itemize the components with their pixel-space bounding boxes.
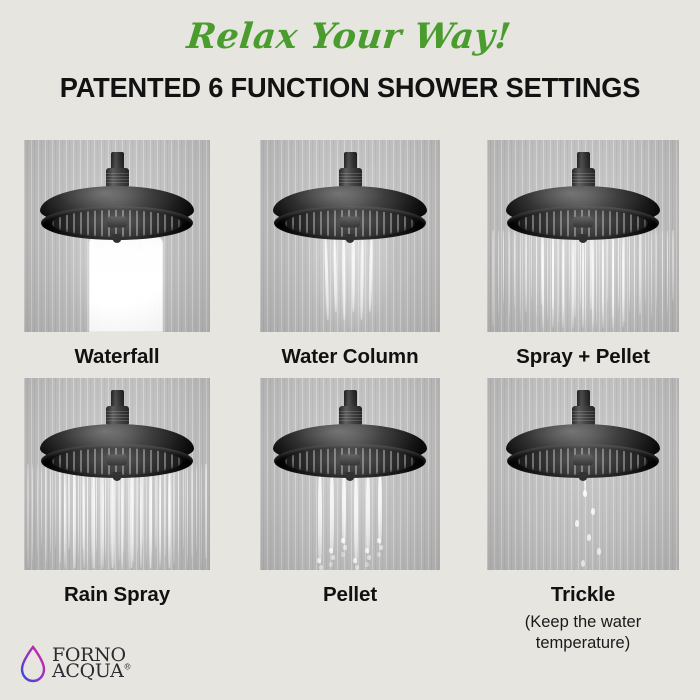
shower-setting-trickle[interactable]: Trickle(Keep the water temperature) [467, 378, 700, 655]
shower-photo-waterfall [24, 140, 210, 332]
water-jet [73, 472, 75, 568]
head-nozzle-face [285, 448, 415, 475]
water-jet [651, 230, 652, 319]
shower-pipe [344, 390, 357, 406]
shower-pipe [577, 152, 590, 168]
water-jet [168, 472, 170, 568]
brand-line-2: ACQUA® [52, 664, 131, 680]
water-jet [130, 472, 132, 568]
shower-pipe [111, 390, 124, 406]
head-hub [573, 454, 593, 465]
shower-photo-rain-spray [24, 378, 210, 570]
setting-label-rain-spray: Rain Spray [64, 584, 170, 606]
water-droplet [319, 565, 322, 570]
script-tagline: Relax Your Way! [0, 0, 700, 54]
setting-label-spray-pellet: Spray + Pellet [516, 346, 650, 368]
setting-label-pellet: Pellet [323, 584, 377, 606]
head-hub [573, 217, 593, 228]
shower-head-disc [506, 186, 660, 242]
settings-row-2: Rain SprayPelletTrickle(Keep the water t… [0, 378, 700, 655]
shower-head-disc [273, 186, 427, 242]
page-title: PATENTED 6 FUNCTION SHOWER SETTINGS [4, 54, 697, 102]
water-droplet [341, 552, 344, 557]
water-jet [525, 230, 527, 312]
shower-pipe [111, 152, 124, 168]
shower-head-waterfall [40, 152, 194, 242]
head-selector-nub [113, 472, 122, 481]
setting-label-waterfall: Waterfall [75, 346, 160, 368]
water-mist [307, 238, 393, 328]
water-jet [662, 230, 663, 323]
water-droplet [329, 562, 332, 567]
water-droplet [581, 560, 585, 567]
shower-pipe [344, 152, 357, 168]
setting-sublabel-trickle: (Keep the water temperature) [493, 612, 673, 655]
shower-head-disc [273, 424, 427, 480]
water-jet [205, 464, 206, 559]
head-selector-nub [346, 472, 355, 481]
water-jet [92, 472, 94, 568]
brand-name: FORNO ACQUA® [52, 648, 131, 680]
water-jet [574, 230, 576, 317]
shower-head-disc [506, 424, 660, 480]
brand-logo: FORNO ACQUA® [18, 644, 131, 684]
water-jet [639, 230, 641, 315]
water-jet [201, 464, 202, 566]
shower-collar [106, 168, 129, 188]
head-hub [107, 217, 127, 228]
water-jet [509, 230, 511, 319]
shower-collar [339, 406, 362, 426]
shower-photo-trickle [487, 378, 679, 570]
water-jet [520, 230, 521, 323]
setting-label-water-column: Water Column [282, 346, 419, 368]
water-droplet [355, 565, 358, 570]
water-mist [65, 236, 169, 332]
shower-setting-spray-pellet[interactable]: Spray + Pellet [467, 140, 700, 368]
water-droplet [591, 508, 595, 515]
registered-mark: ® [124, 663, 132, 672]
water-droplet [597, 548, 601, 555]
shower-head-disc [40, 424, 194, 480]
water-droplet [317, 558, 320, 563]
water-droplet [367, 555, 370, 560]
head-nozzle-face [518, 210, 648, 237]
shower-head-rain-spray [40, 390, 194, 480]
shower-pipe [577, 390, 590, 406]
setting-label-trickle: Trickle [551, 584, 615, 606]
water-drop-icon [18, 644, 48, 684]
shower-settings-grid: WaterfallWater ColumnSpray + Pellet Rain… [0, 140, 700, 655]
water-jet [498, 230, 499, 315]
water-jet [111, 472, 113, 568]
head-selector-nub [113, 234, 122, 243]
head-nozzle-face [52, 448, 182, 475]
shower-setting-pellet[interactable]: Pellet [234, 378, 467, 606]
head-nozzle-face [518, 448, 648, 475]
shower-collar [339, 168, 362, 188]
shower-head-pellet [273, 390, 427, 480]
water-droplet [377, 552, 380, 557]
water-jet [492, 230, 494, 326]
head-hub [107, 454, 127, 465]
shower-collar [106, 406, 129, 426]
head-hub [340, 217, 360, 228]
settings-row-1: WaterfallWater ColumnSpray + Pellet [0, 140, 700, 368]
shower-head-disc [40, 186, 194, 242]
shower-head-spray-pellet [506, 152, 660, 242]
shower-setting-rain-spray[interactable]: Rain Spray [1, 378, 234, 606]
shower-setting-water-column[interactable]: Water Column [234, 140, 467, 368]
head-nozzle-face [52, 210, 182, 237]
shower-head-water-column [273, 152, 427, 242]
water-droplet [575, 520, 579, 527]
shower-photo-spray-pellet [487, 140, 679, 332]
head-selector-nub [579, 234, 588, 243]
water-droplet [587, 534, 591, 541]
water-jet [27, 464, 29, 568]
shower-photo-pellet [260, 378, 440, 570]
shower-photo-water-column [260, 140, 440, 332]
water-droplet [331, 555, 334, 560]
water-jet [37, 464, 38, 554]
water-jet [149, 472, 151, 568]
shower-setting-waterfall[interactable]: Waterfall [1, 140, 234, 368]
water-jet [352, 236, 355, 312]
water-jet [672, 230, 674, 301]
head-hub [340, 454, 360, 465]
head-nozzle-face [285, 210, 415, 237]
head-selector-nub [346, 234, 355, 243]
water-droplet [353, 558, 356, 563]
head-selector-nub [579, 472, 588, 481]
shower-collar [572, 168, 595, 188]
shower-collar [572, 406, 595, 426]
water-droplet [365, 562, 368, 567]
shower-head-trickle [506, 390, 660, 480]
water-mist [308, 474, 392, 551]
